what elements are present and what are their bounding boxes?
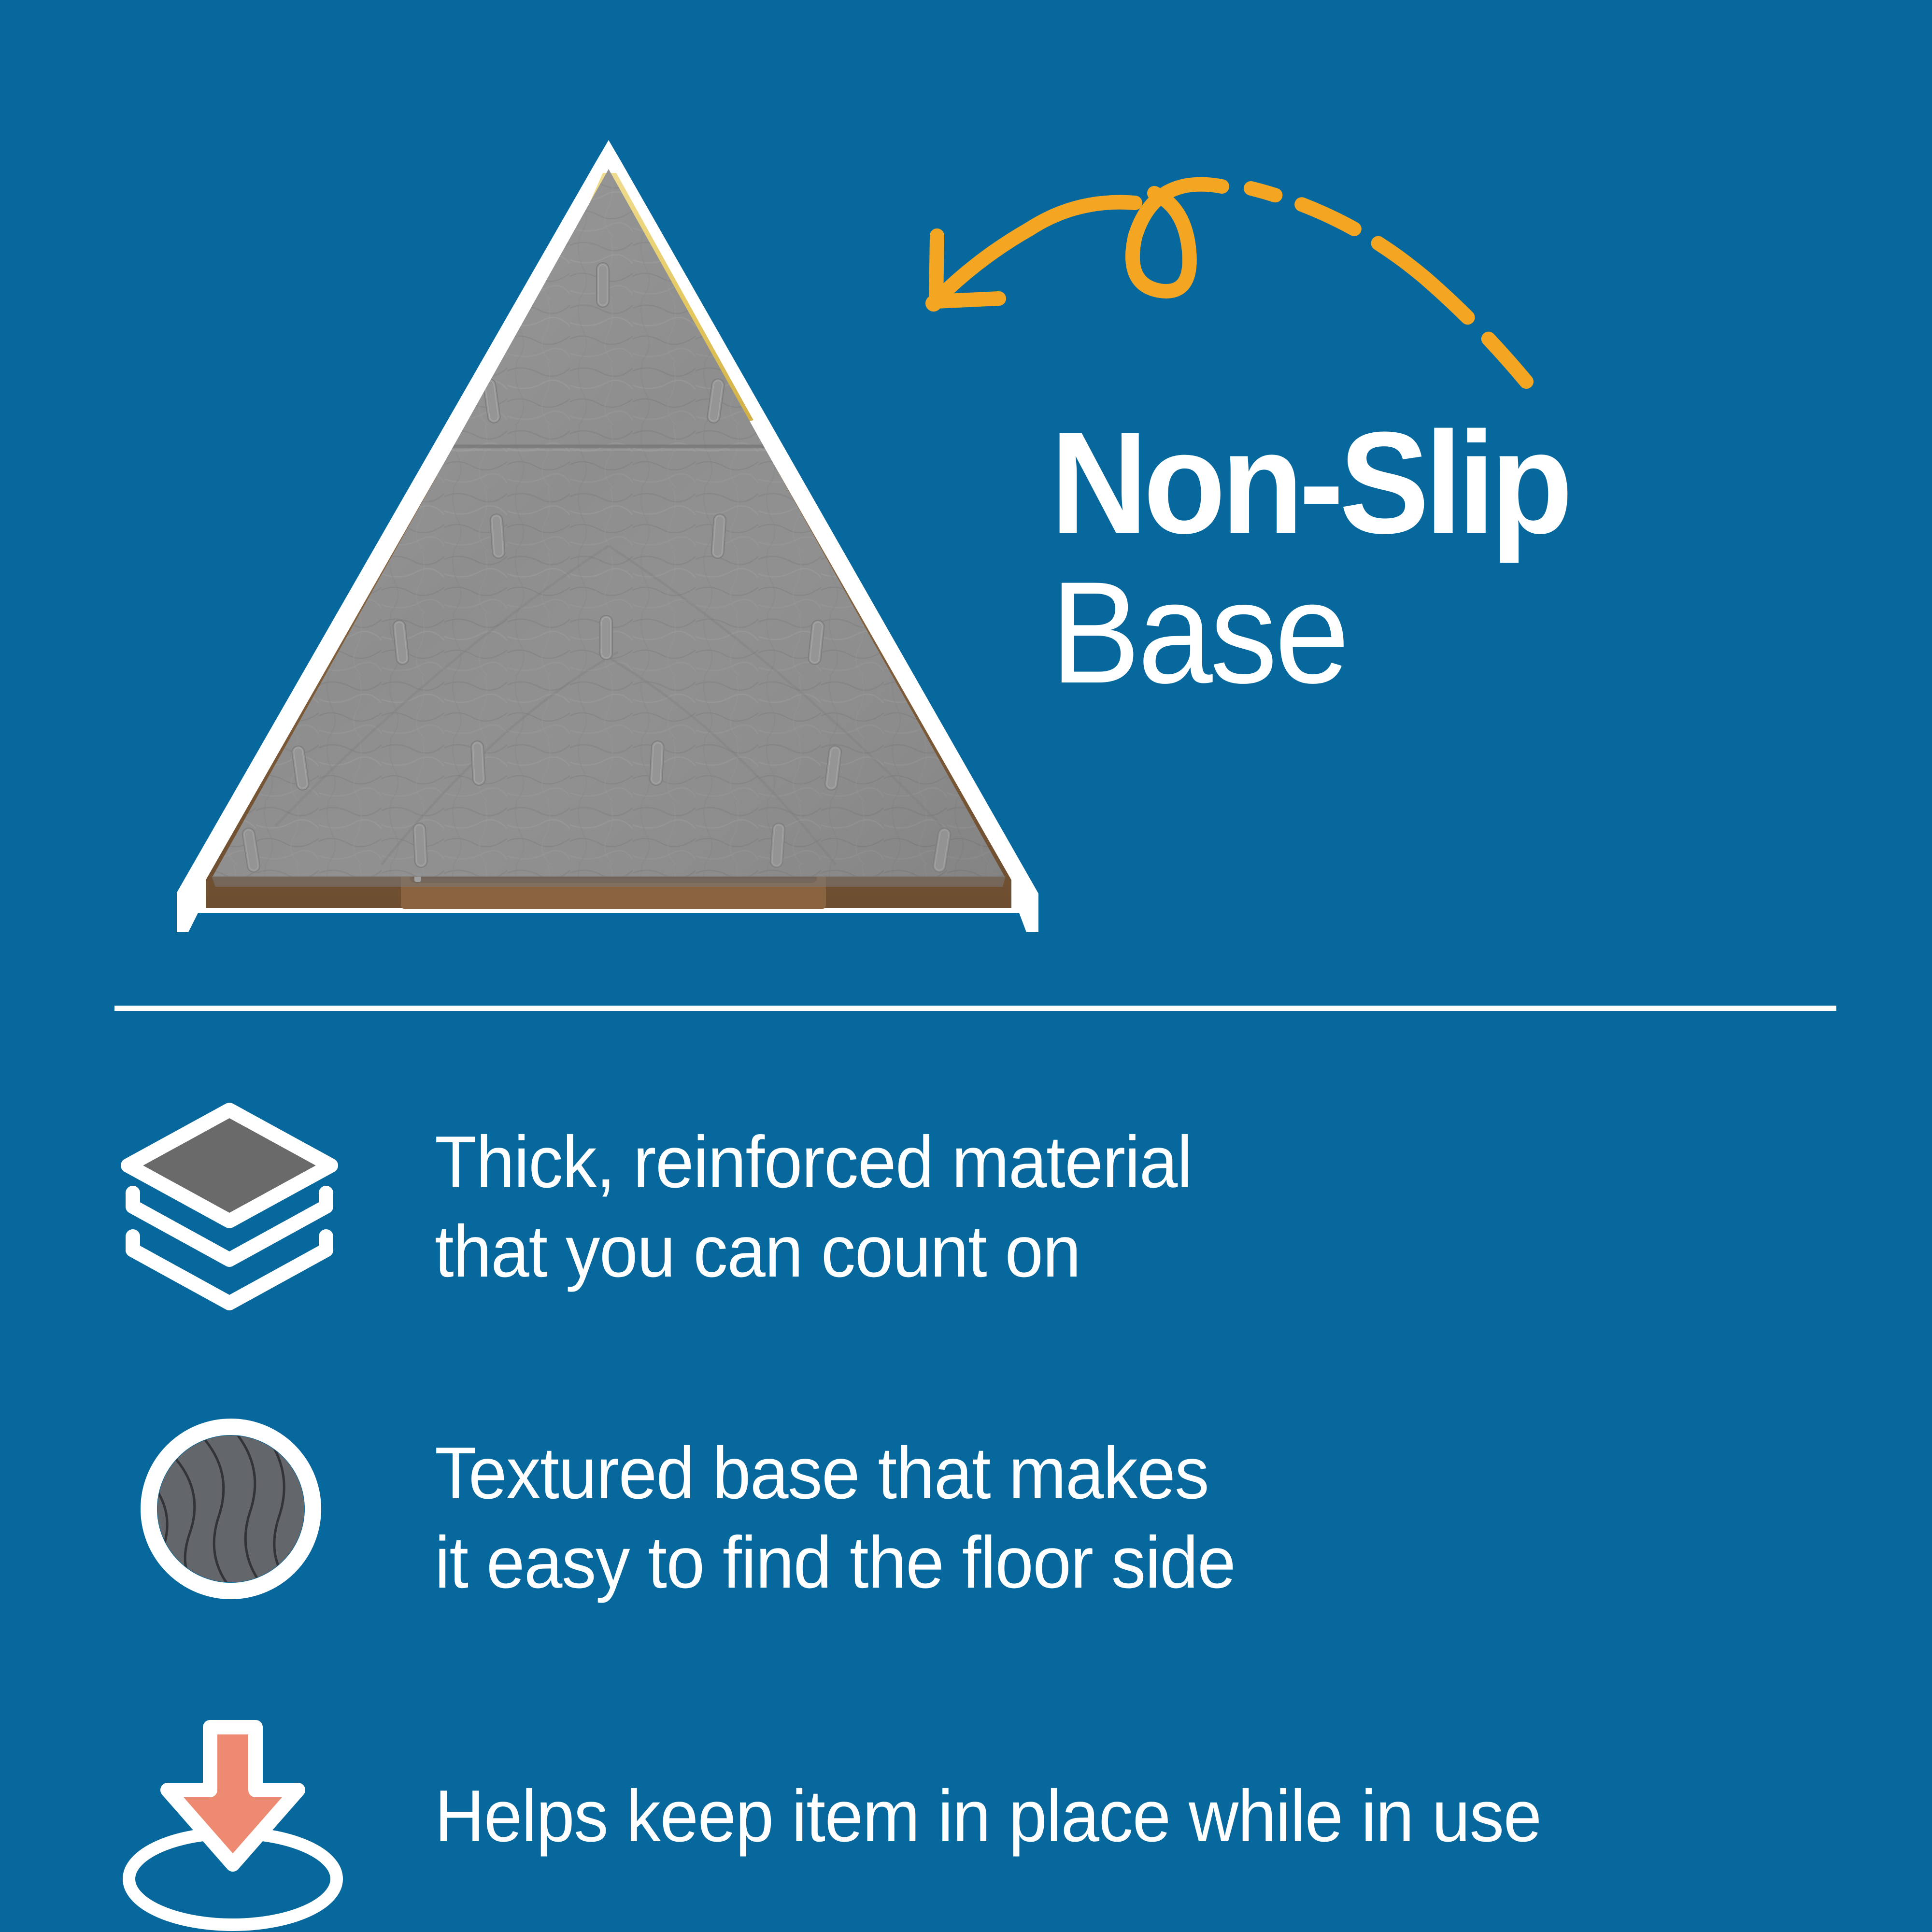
feature-label: Textured base that makes it easy to find… [435,1429,1235,1608]
section-divider [114,1006,1836,1011]
textured-circle-icon [134,1412,327,1605]
curved-dashed-arrow-icon [884,140,1560,411]
feature-label: Thick, reinforced material that you can … [435,1118,1192,1297]
page-title: Non-Slip Base [1051,413,1910,702]
headline-line-1: Non-Slip [1051,413,1850,552]
feature-label: Helps keep item in place while in use [435,1772,1541,1861]
hero-section: Non-Slip Base [0,0,1932,1007]
feature-row: Textured base that makes it easy to find… [0,1396,1932,1659]
arrow-down-into-ellipse-icon [118,1719,348,1932]
feature-row: Thick, reinforced material that you can … [0,1077,1932,1340]
headline-line-2: Base [1051,563,1850,702]
layers-stack-icon [123,1105,336,1313]
feature-list: Thick, reinforced material that you can … [0,1077,1932,1932]
feature-row: Helps keep item in place while in use [0,1715,1932,1932]
